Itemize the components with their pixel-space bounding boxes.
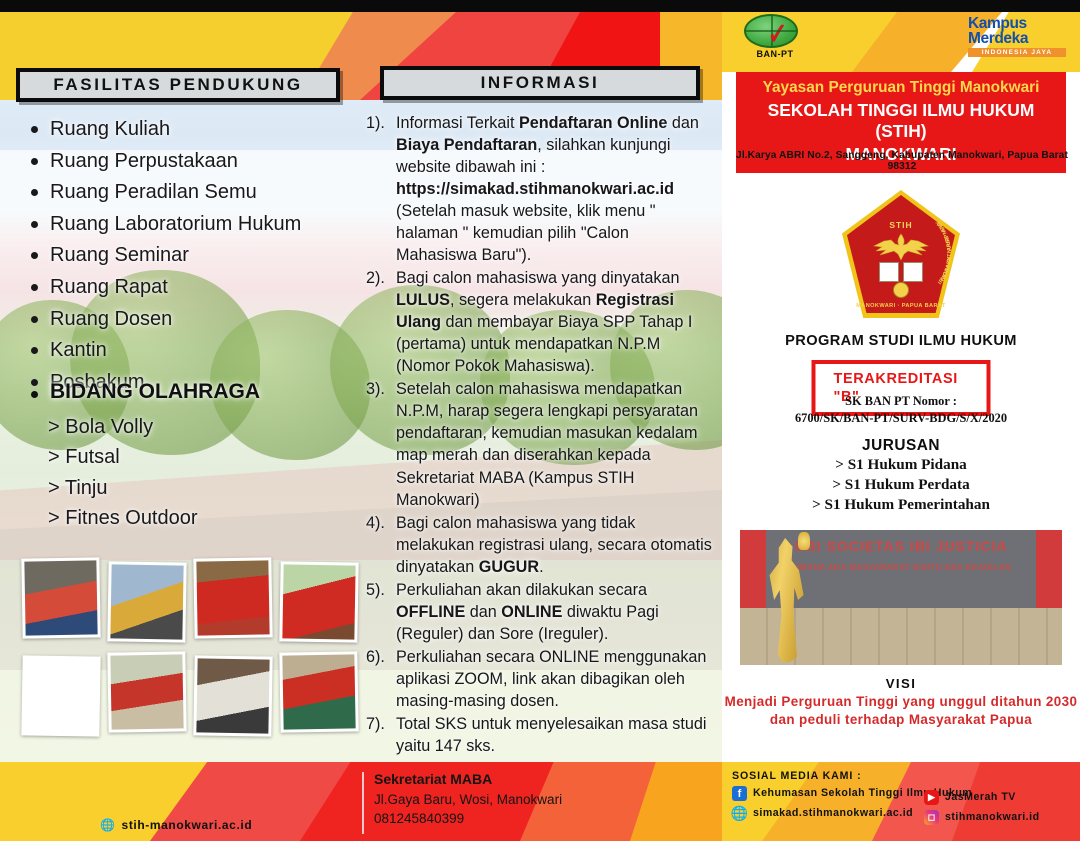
kampus-line2: Merdeka bbox=[968, 31, 1066, 47]
list-item: Ruang Peradilan Semu bbox=[22, 178, 352, 208]
photo-collage bbox=[16, 552, 356, 752]
informasi-item-text: Total SKS untuk menyelesaikan masa studi… bbox=[396, 715, 706, 755]
visi-header: VISI bbox=[722, 676, 1080, 691]
social-column-right: ▶ JasMerah TV ◻ stihmanokwari.id bbox=[924, 786, 1040, 826]
left-website-label: stih-manokwari.ac.id bbox=[122, 818, 253, 832]
informasi-item-text: Perkuliahan secara ONLINE menggunakan ap… bbox=[396, 648, 706, 710]
informasi-item: 2).Bagi calon mahasiswa yang dinyatakan … bbox=[366, 267, 714, 377]
collage-photo bbox=[279, 561, 358, 642]
website-label: simakad.stihmanokwari.ac.id bbox=[753, 806, 913, 822]
top-black-bar bbox=[0, 0, 1080, 12]
list-item: > Fitnes Outdoor bbox=[48, 503, 368, 533]
left-panel: FASILITAS PENDUKUNG Ruang Kuliah Ruang P… bbox=[0, 0, 722, 841]
torch-icon bbox=[798, 532, 810, 550]
olahraga-list: > Bola Volly > Futsal > Tinju > Fitnes O… bbox=[48, 412, 368, 534]
left-website-link[interactable]: 🌐 stih-manokwari.ac.id bbox=[100, 818, 252, 832]
sk-label: SK BAN PT Nomor : bbox=[722, 394, 1080, 409]
right-panel: ✓ BAN-PT Kampus Merdeka INDONESIA JAYA Y… bbox=[722, 0, 1080, 841]
youtube-icon: ▶ bbox=[924, 790, 939, 805]
visi-body: Menjadi Perguruan Tinggi yang unggul dit… bbox=[722, 693, 1080, 729]
informasi-header-label: INFORMASI bbox=[481, 73, 600, 93]
yayasan-label: Yayasan Perguruan Tinggi Manokwari bbox=[744, 79, 1058, 98]
photo-thumb bbox=[196, 560, 269, 635]
informasi-item-number: 5). bbox=[366, 579, 385, 601]
photo-thumb bbox=[24, 658, 97, 733]
photo-thumb bbox=[24, 560, 97, 635]
book-icon bbox=[879, 262, 923, 282]
informasi-item: 3).Setelah calon mahasiswa mendapatkan N… bbox=[366, 378, 714, 510]
informasi-header-box: INFORMASI bbox=[380, 66, 700, 100]
collage-photo bbox=[107, 651, 186, 732]
informasi-item-number: 7). bbox=[366, 713, 385, 735]
collage-photo bbox=[21, 557, 100, 638]
informasi-item-text: Informasi Terkait Pendaftaran Online dan… bbox=[396, 114, 699, 264]
fasilitas-header-box: FASILITAS PENDUKUNG bbox=[16, 68, 340, 102]
photo-thumb bbox=[282, 654, 355, 729]
logo-center-text: STIH bbox=[842, 220, 960, 230]
list-item: > Bola Volly bbox=[48, 412, 368, 442]
collage-photo bbox=[107, 561, 186, 642]
informasi-item-number: 3). bbox=[366, 378, 385, 400]
list-item: Ruang Dosen bbox=[22, 305, 352, 335]
globe-icon: 🌐 bbox=[100, 818, 116, 832]
banpt-label: BAN-PT bbox=[744, 49, 806, 59]
sk-number: 6700/SK/BAN-PT/SURV-BDG/S/X/2020 bbox=[722, 411, 1080, 426]
social-header: SOSIAL MEDIA KAMI : bbox=[732, 770, 1080, 782]
footer-divider bbox=[362, 772, 364, 834]
star-icon bbox=[893, 282, 909, 298]
photo-thumb bbox=[282, 564, 355, 639]
social-instagram[interactable]: ◻ stihmanokwari.id bbox=[924, 810, 1040, 826]
collage-photo bbox=[193, 557, 272, 638]
informasi-list: 1).Informasi Terkait Pendaftaran Online … bbox=[366, 112, 714, 758]
fasilitas-header-label: FASILITAS PENDUKUNG bbox=[53, 75, 302, 95]
kampus-merdeka-logo: Kampus Merdeka INDONESIA JAYA bbox=[968, 16, 1066, 57]
banpt-logo: ✓ BAN-PT bbox=[744, 14, 806, 66]
globe-icon: ✓ bbox=[744, 14, 798, 48]
informasi-item: 4).Bagi calon mahasiswa yang tidak melak… bbox=[366, 512, 714, 578]
kampus-tagline: INDONESIA JAYA bbox=[968, 48, 1066, 57]
sk-block: SK BAN PT Nomor : 6700/SK/BAN-PT/SURV-BD… bbox=[722, 394, 1080, 426]
jurusan-block: JURUSAN > S1 Hukum Pidana > S1 Hukum Per… bbox=[722, 437, 1080, 515]
kampus-line1: Kampus bbox=[968, 16, 1066, 31]
social-youtube[interactable]: ▶ JasMerah TV bbox=[924, 790, 1040, 806]
youtube-label: JasMerah TV bbox=[945, 790, 1016, 806]
informasi-item-number: 4). bbox=[366, 512, 385, 534]
list-item: > Tinju bbox=[48, 473, 368, 503]
list-item: > Futsal bbox=[48, 442, 368, 472]
institution-address: Jl.Karya ABRI No.2, Sanggeng, Kabupaten … bbox=[732, 150, 1072, 172]
checkmark-icon: ✓ bbox=[768, 20, 788, 48]
collage-photo bbox=[279, 651, 358, 732]
photo-thumb bbox=[196, 658, 269, 733]
list-item: Ruang Kuliah bbox=[22, 115, 352, 145]
program-studi-label: PROGRAM STUDI ILMU HUKUM bbox=[722, 333, 1080, 349]
eagle-icon bbox=[870, 232, 932, 262]
informasi-item-number: 2). bbox=[366, 267, 385, 289]
sekretariat-title: Sekretariat MABA bbox=[374, 770, 674, 790]
informasi-item-text: Setelah calon mahasiswa mendapatkan N.P.… bbox=[396, 380, 698, 508]
list-item: Ruang Seminar bbox=[22, 241, 352, 271]
list-item: Ruang Perpustakaan bbox=[22, 147, 352, 177]
sekretariat-block: Sekretariat MABA Jl.Gaya Baru, Wosi, Man… bbox=[374, 770, 674, 828]
list-item: Kantin bbox=[22, 336, 352, 366]
informasi-item: 5).Perkuliahan akan dilakukan secara OFF… bbox=[366, 579, 714, 645]
institution-line1: SEKOLAH TINGGI ILMU HUKUM (STIH) bbox=[744, 100, 1058, 142]
collage-photo bbox=[21, 655, 100, 736]
list-item: Ruang Laboratorium Hukum bbox=[22, 210, 352, 240]
informasi-item-text: Bagi calon mahasiswa yang tidak melakuka… bbox=[396, 514, 712, 576]
list-item: Ruang Rapat bbox=[22, 273, 352, 303]
informasi-item-number: 6). bbox=[366, 646, 385, 668]
informasi-item: 7).Total SKS untuk menyelesaikan masa st… bbox=[366, 713, 714, 757]
photo-thumb bbox=[110, 564, 183, 639]
visi-block: VISI Menjadi Perguruan Tinggi yang unggu… bbox=[722, 676, 1080, 729]
globe-icon: 🌐 bbox=[732, 806, 747, 821]
logo-ring-text-bottom: MANOKWARI · PAPUA BARAT bbox=[842, 303, 960, 309]
list-item: > S1 Hukum Perdata bbox=[722, 475, 1080, 495]
stih-logo: YAYASAN PERGURUAN TINGGI MANOKWARI STIH … bbox=[842, 190, 960, 318]
informasi-item: 1).Informasi Terkait Pendaftaran Online … bbox=[366, 112, 714, 266]
justice-statue-photo: UBI SOCIETAS IBI JUSTICIA DIMANA ADA MAS… bbox=[740, 530, 1062, 665]
informasi-item-text: Bagi calon mahasiswa yang dinyatakan LUL… bbox=[396, 269, 692, 375]
fasilitas-list: Ruang Kuliah Ruang Perpustakaan Ruang Pe… bbox=[22, 115, 352, 399]
list-item: > S1 Hukum Pemerintahan bbox=[722, 495, 1080, 515]
jurusan-list: > S1 Hukum Pidana > S1 Hukum Perdata > S… bbox=[722, 455, 1080, 515]
informasi-item-number: 1). bbox=[366, 112, 385, 134]
informasi-item-text: Perkuliahan akan dilakukan secara OFFLIN… bbox=[396, 581, 659, 643]
jurusan-header: JURUSAN bbox=[722, 437, 1080, 455]
facebook-icon: f bbox=[732, 786, 747, 801]
sekretariat-address: Jl.Gaya Baru, Wosi, Manokwari bbox=[374, 790, 674, 809]
sekretariat-phone: 081245840399 bbox=[374, 809, 674, 828]
social-media-block: SOSIAL MEDIA KAMI : f Kehumasan Sekolah … bbox=[732, 770, 1080, 822]
instagram-icon: ◻ bbox=[924, 810, 939, 825]
brochure-page: FASILITAS PENDUKUNG Ruang Kuliah Ruang P… bbox=[0, 0, 1080, 841]
list-item: > S1 Hukum Pidana bbox=[722, 455, 1080, 475]
instagram-label: stihmanokwari.id bbox=[945, 810, 1040, 826]
olahraga-header: BIDANG OLAHRAGA bbox=[22, 380, 362, 404]
collage-photo bbox=[193, 655, 272, 736]
informasi-item: 6).Perkuliahan secara ONLINE menggunakan… bbox=[366, 646, 714, 712]
photo-thumb bbox=[110, 654, 183, 729]
